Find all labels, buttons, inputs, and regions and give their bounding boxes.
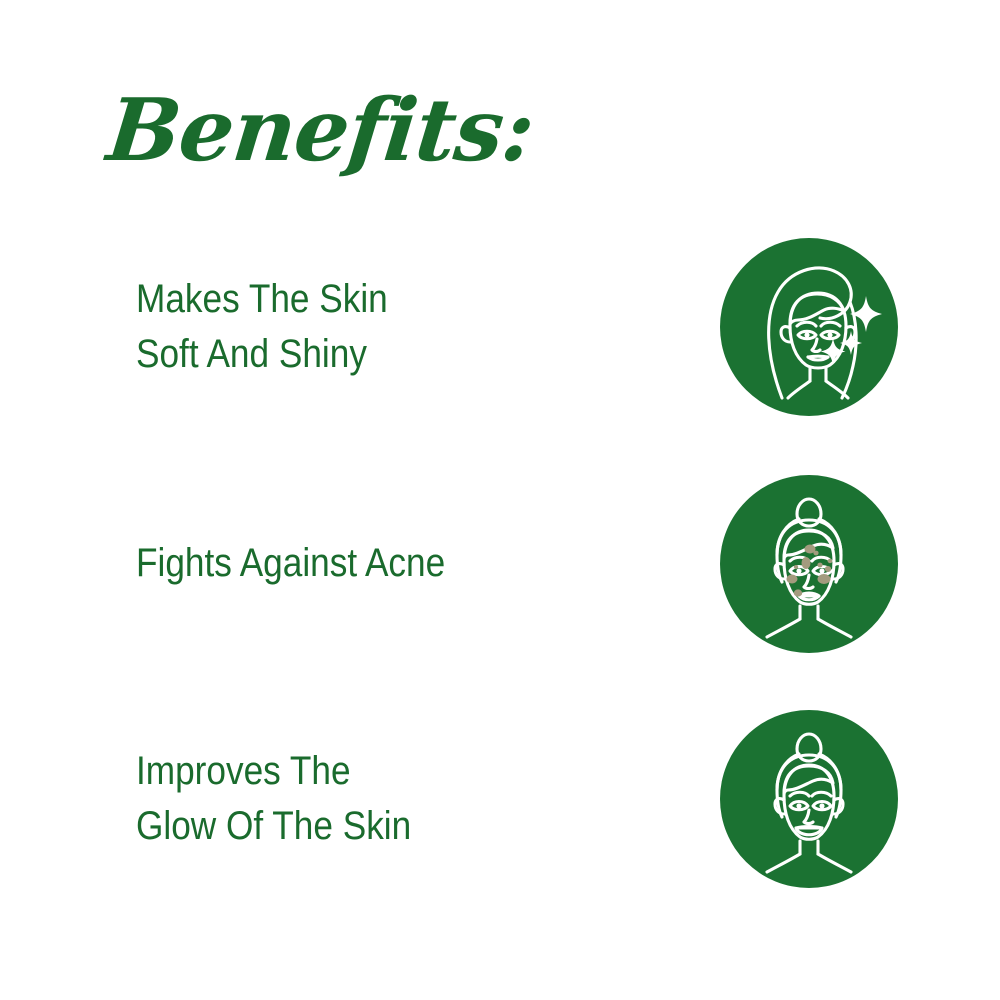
benefit-icon-1 <box>720 238 898 416</box>
benefit-label-1: Makes The Skin Soft And Shiny <box>136 272 611 382</box>
benefit-label-2: Fights Against Acne <box>136 536 611 591</box>
benefits-infographic: Benefits: Makes The Skin Soft And Shiny <box>0 0 1000 1000</box>
benefit-icon-2 <box>720 475 898 653</box>
benefit-icon-3 <box>720 710 898 888</box>
benefit-label-3: Improves The Glow Of The Skin <box>136 744 611 854</box>
woman-clear-glowing-face-icon <box>720 710 898 888</box>
page-title: Benefits: <box>103 88 632 174</box>
woman-acne-face-icon <box>720 475 898 653</box>
woman-glowing-skin-sparkles-icon <box>720 238 898 416</box>
benefit-row-1: Makes The Skin Soft And Shiny <box>0 232 1000 422</box>
benefit-row-2: Fights Against Acne <box>0 469 1000 659</box>
benefit-row-3: Improves The Glow Of The Skin <box>0 704 1000 894</box>
